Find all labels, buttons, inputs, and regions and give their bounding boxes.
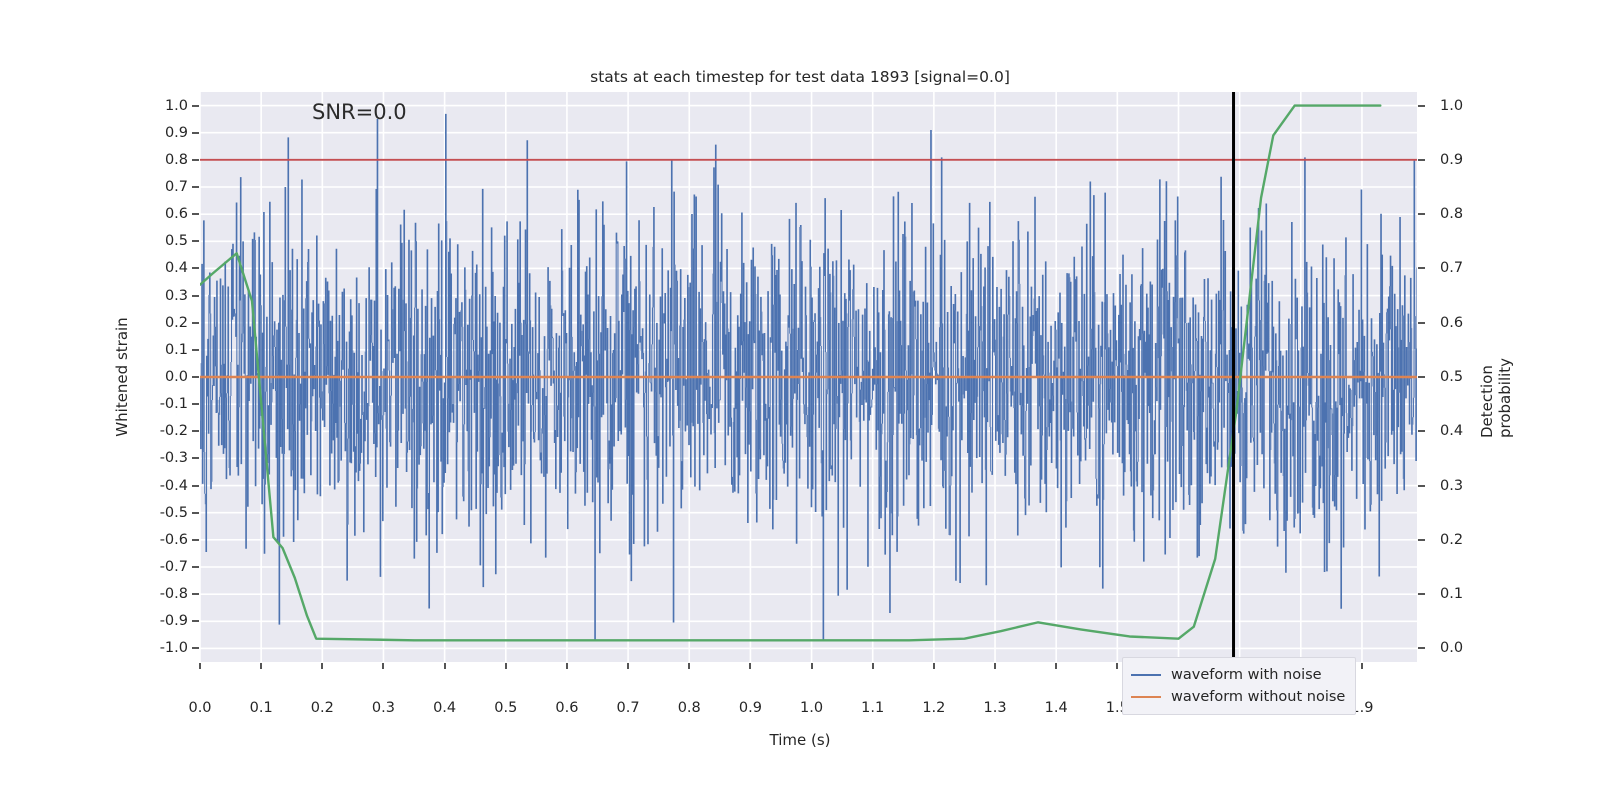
plot-area (200, 92, 1417, 662)
y-tick-mark-right (1418, 430, 1425, 432)
y-tick-mark-right (1418, 105, 1425, 107)
x-axis-label: Time (s) (0, 731, 1600, 749)
y-tick-label-right: 0.3 (1440, 478, 1463, 494)
y-tick-label-left: -0.2 (160, 423, 188, 439)
y-tick-mark-left (192, 512, 199, 514)
x-tick-label: 0.9 (739, 700, 762, 716)
x-tick-mark (1055, 663, 1057, 669)
y-tick-label-left: -0.7 (160, 559, 188, 575)
y-tick-label-right: 0.5 (1440, 369, 1463, 385)
y-tick-label-right: 0.4 (1440, 423, 1463, 439)
x-tick-label: 0.1 (250, 700, 273, 716)
y-tick-label-left: 0.9 (165, 125, 188, 141)
x-tick-label: 0.0 (188, 700, 211, 716)
y-tick-label-left: -0.3 (160, 450, 188, 466)
y-tick-mark-right (1418, 376, 1425, 378)
x-tick-mark (1361, 663, 1363, 669)
y-tick-mark-right (1418, 159, 1425, 161)
x-tick-mark (382, 663, 384, 669)
y-tick-mark-right (1418, 539, 1425, 541)
x-tick-label: 1.2 (922, 700, 945, 716)
y-tick-mark-left (192, 376, 199, 378)
y-tick-label-left: 0.7 (165, 179, 188, 195)
y-tick-label-left: -0.4 (160, 478, 188, 494)
x-tick-mark (199, 663, 201, 669)
y-axis-label-right: Detection probability (1478, 316, 1514, 438)
x-tick-mark (444, 663, 446, 669)
x-tick-mark (994, 663, 996, 669)
x-tick-label: 0.3 (372, 700, 395, 716)
y-tick-mark-left (192, 457, 199, 459)
legend-item: waveform with noise (1131, 664, 1345, 686)
y-tick-label-left: -0.9 (160, 613, 188, 629)
x-tick-mark (811, 663, 813, 669)
y-tick-label-left: 1.0 (165, 98, 188, 114)
x-tick-label: 0.4 (433, 700, 456, 716)
y-tick-label-left: 0.4 (165, 260, 188, 276)
y-tick-label-left: -0.5 (160, 505, 188, 521)
y-tick-label-right: 1.0 (1440, 98, 1463, 114)
x-tick-label: 1.0 (800, 700, 823, 716)
x-tick-mark (688, 663, 690, 669)
y-tick-label-left: -0.8 (160, 586, 188, 602)
x-tick-mark (749, 663, 751, 669)
x-tick-mark (566, 663, 568, 669)
y-tick-mark-left (192, 647, 199, 649)
y-tick-label-left: -0.1 (160, 396, 188, 412)
y-tick-mark-right (1418, 593, 1425, 595)
legend-swatch-waveform-without-noise (1131, 696, 1161, 698)
y-tick-mark-right (1418, 647, 1425, 649)
y-tick-mark-left (192, 186, 199, 188)
y-tick-label-right: 0.6 (1440, 315, 1463, 331)
x-tick-mark (1116, 663, 1118, 669)
y-tick-mark-left (192, 620, 199, 622)
legend-label: waveform without noise (1171, 689, 1345, 705)
y-tick-label-left: 0.0 (165, 369, 188, 385)
y-tick-label-left: -1.0 (160, 640, 188, 656)
x-tick-mark (872, 663, 874, 669)
y-tick-label-right: 0.8 (1440, 206, 1463, 222)
y-tick-label-left: -0.6 (160, 532, 188, 548)
x-tick-label: 1.1 (861, 700, 884, 716)
y-tick-mark-left (192, 566, 199, 568)
y-tick-mark-left (192, 132, 199, 134)
snr-annotation: SNR=0.0 (312, 100, 407, 124)
y-tick-label-left: 0.1 (165, 342, 188, 358)
y-tick-label-left: 0.3 (165, 288, 188, 304)
y-tick-label-right: 0.2 (1440, 532, 1463, 548)
x-tick-label: 1.4 (1045, 700, 1068, 716)
y-tick-mark-left (192, 159, 199, 161)
y-tick-mark-left (192, 295, 199, 297)
x-tick-mark (260, 663, 262, 669)
legend-label: waveform with noise (1171, 667, 1322, 683)
y-tick-mark-right (1418, 322, 1425, 324)
x-tick-label: 0.6 (555, 700, 578, 716)
y-tick-mark-left (192, 322, 199, 324)
x-tick-mark (321, 663, 323, 669)
y-tick-label-left: 0.5 (165, 233, 188, 249)
y-tick-mark-left (192, 539, 199, 541)
plot-svg (200, 92, 1417, 662)
x-tick-mark (505, 663, 507, 669)
x-tick-mark (627, 663, 629, 669)
y-tick-label-right: 0.0 (1440, 640, 1463, 656)
x-tick-label: 0.8 (678, 700, 701, 716)
y-tick-label-right: 0.7 (1440, 260, 1463, 276)
y-tick-mark-left (192, 485, 199, 487)
page-title: stats at each timestep for test data 189… (0, 68, 1600, 86)
y-tick-label-left: 0.6 (165, 206, 188, 222)
y-tick-mark-right (1418, 485, 1425, 487)
x-tick-label: 0.2 (311, 700, 334, 716)
y-tick-mark-left (192, 240, 199, 242)
y-tick-label-left: 0.8 (165, 152, 188, 168)
y-tick-label-left: 0.2 (165, 315, 188, 331)
legend-swatch-waveform-with-noise (1131, 674, 1161, 676)
y-tick-label-right: 0.9 (1440, 152, 1463, 168)
y-tick-mark-left (192, 105, 199, 107)
legend: waveform with noise waveform without noi… (1122, 657, 1356, 715)
x-tick-mark (933, 663, 935, 669)
x-tick-label: 1.3 (983, 700, 1006, 716)
y-tick-mark-left (192, 430, 199, 432)
legend-item: waveform without noise (1131, 686, 1345, 708)
y-axis-label-left: Whitened strain (113, 317, 131, 436)
x-tick-label: 0.5 (494, 700, 517, 716)
y-tick-mark-left (192, 403, 199, 405)
chart-root: stats at each timestep for test data 189… (0, 0, 1600, 800)
y-tick-mark-right (1418, 267, 1425, 269)
y-tick-mark-left (192, 349, 199, 351)
y-tick-label-right: 0.1 (1440, 586, 1463, 602)
y-tick-mark-left (192, 213, 199, 215)
y-tick-mark-left (192, 593, 199, 595)
x-tick-label: 0.7 (617, 700, 640, 716)
y-tick-mark-right (1418, 213, 1425, 215)
y-tick-mark-left (192, 267, 199, 269)
